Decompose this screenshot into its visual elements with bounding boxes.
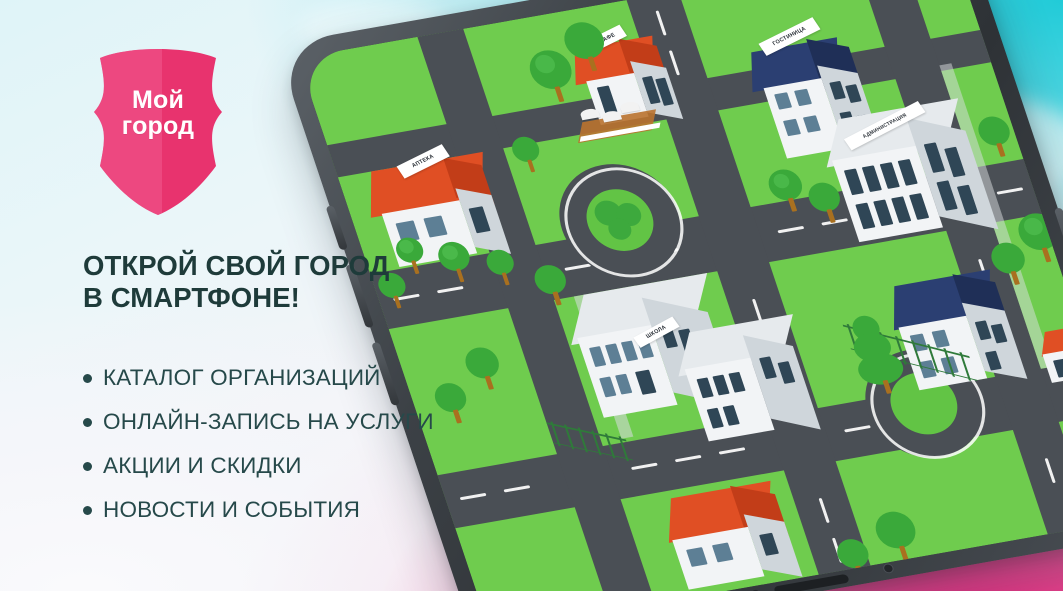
phone-microphone — [882, 563, 895, 574]
list-item-label: ОНЛАЙН-ЗАПИСЬ НА УСЛУГИ — [103, 409, 434, 435]
logo-line-2: город — [88, 114, 228, 140]
logo-my-city[interactable]: Мой город — [88, 42, 228, 218]
bullet-dot-icon — [83, 374, 92, 383]
list-item: КАТАЛОГ ОРГАНИЗАЦИЙ — [83, 356, 503, 400]
headline-line-1: ОТКРОЙ СВОЙ ГОРОД — [83, 250, 423, 282]
bullet-dot-icon — [83, 418, 92, 427]
headline-line-2: В СМАРТФОНЕ! — [83, 282, 423, 314]
list-item-label: АКЦИИ И СКИДКИ — [103, 453, 302, 479]
page-title: ОТКРОЙ СВОЙ ГОРОД В СМАРТФОНЕ! — [83, 250, 423, 314]
list-item-label: НОВОСТИ И СОБЫТИЯ — [103, 497, 360, 523]
bullet-dot-icon — [83, 462, 92, 471]
list-item: НОВОСТИ И СОБЫТИЯ — [83, 488, 503, 532]
bullet-dot-icon — [83, 506, 92, 515]
list-item-label: КАТАЛОГ ОРГАНИЗАЦИЙ — [103, 365, 381, 391]
list-item: АКЦИИ И СКИДКИ — [83, 444, 503, 488]
list-item: ОНЛАЙН-ЗАПИСЬ НА УСЛУГИ — [83, 400, 503, 444]
cafe-umbrella — [579, 108, 600, 121]
promo-banner: БЕЛТЕЛЕКОМ — [0, 0, 1063, 591]
feature-list: КАТАЛОГ ОРГАНИЗАЦИЙ ОНЛАЙН-ЗАПИСЬ НА УСЛ… — [83, 356, 503, 532]
left-content-panel: Мой город ОТКРОЙ СВОЙ ГОРОД В СМАРТФОНЕ!… — [0, 0, 430, 591]
logo-text: Мой город — [88, 88, 228, 139]
tree — [869, 508, 927, 565]
logo-line-1: Мой — [88, 88, 228, 114]
